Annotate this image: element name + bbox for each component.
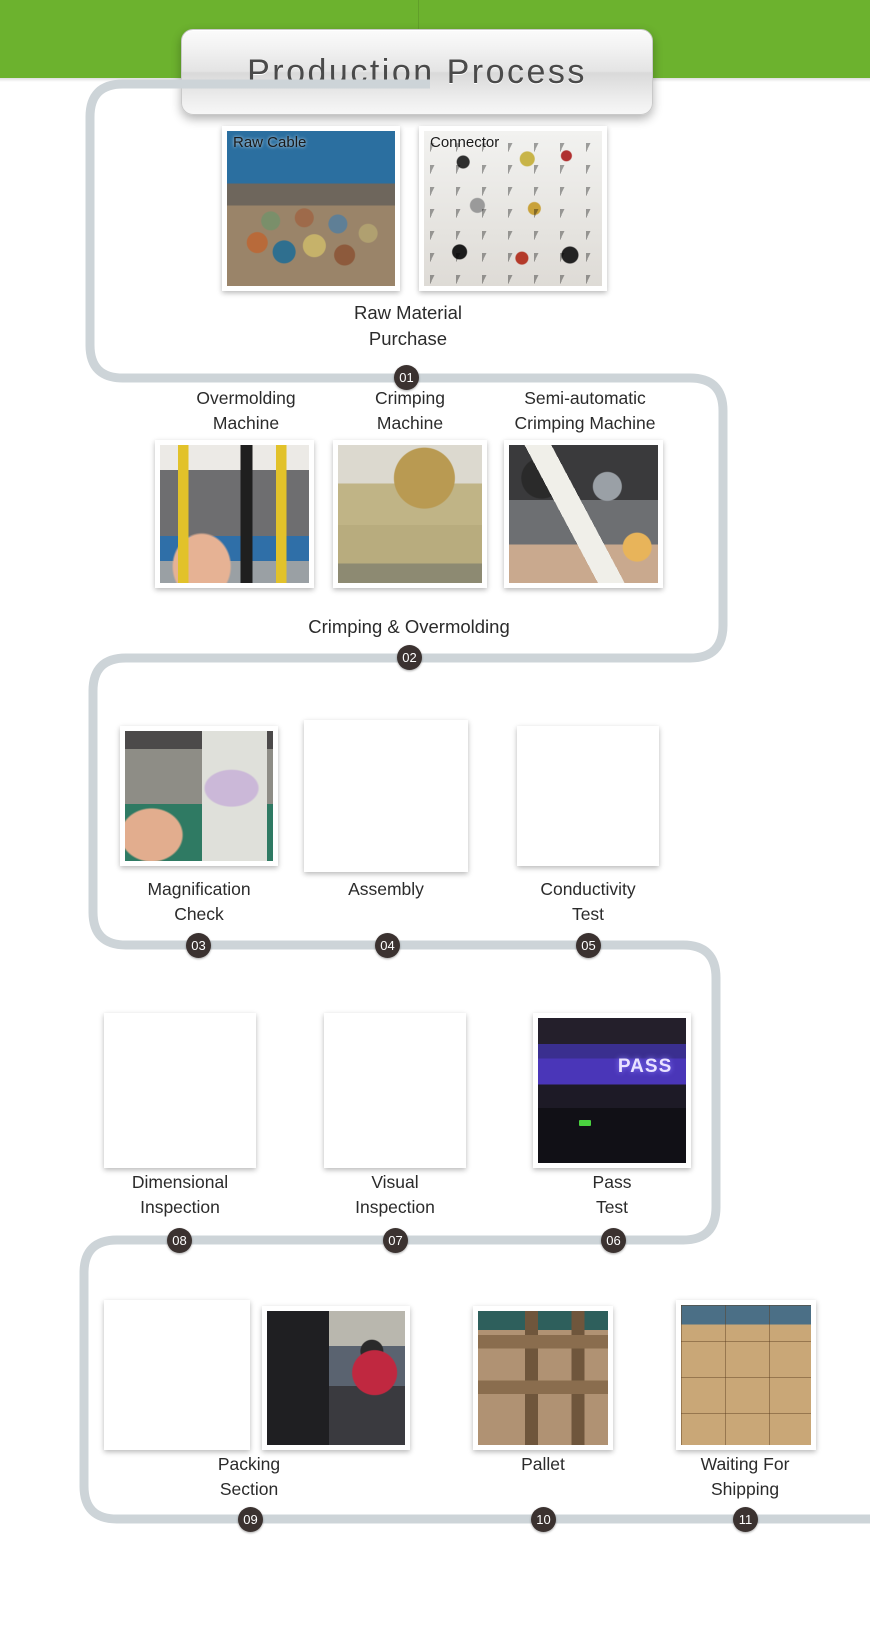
stage-crimping-photo-semi-automatic — [504, 440, 663, 588]
stage-crimping-photo-crimping-machine — [333, 440, 487, 588]
stage-label-line1: Packing — [169, 1452, 329, 1477]
stage-label-pallet: Pallet — [463, 1452, 623, 1477]
step-badge-06: 06 — [601, 1228, 626, 1253]
photo-image-magnification-check — [125, 731, 273, 861]
stage-pallet-photo — [473, 1306, 613, 1450]
page-title: Production Process — [247, 53, 587, 92]
pass-led-indicator — [579, 1120, 591, 1126]
stage-label-line1: Conductivity — [508, 877, 668, 902]
production-process-infographic: Production Process Raw Cable Connector R… — [0, 0, 870, 1635]
step-badge-07: 07 — [383, 1228, 408, 1253]
stage-label-line2: Check — [119, 902, 279, 927]
stage-label-line2: Inspection — [315, 1195, 475, 1220]
stage-toplabel-crimping-machine: Crimping Machine — [336, 386, 484, 436]
step-badge-03: 03 — [186, 933, 211, 958]
stage-assembly-photo — [304, 720, 468, 872]
stage-pass-test-photo: PASS — [533, 1013, 691, 1168]
photo-image-pass-test: PASS — [538, 1018, 686, 1163]
photo-image-raw-cable: Raw Cable — [227, 131, 395, 286]
photo-image-waiting-for-shipping — [681, 1305, 811, 1445]
stage-label-line1: Crimping & Overmolding — [269, 614, 549, 640]
stage-waiting-for-shipping-photo — [676, 1300, 816, 1450]
stage-label-magnification-check: Magnification Check — [119, 877, 279, 927]
photo-image-packing-1 — [109, 1305, 245, 1445]
stage-magnification-check-photo — [120, 726, 278, 866]
photo-image-visual-inspection — [329, 1018, 461, 1163]
photo-image-pallet — [478, 1311, 608, 1445]
stage-label-pass-test: Pass Test — [532, 1170, 692, 1220]
toplabel-line2: Machine — [166, 411, 326, 436]
step-badge-04: 04 — [375, 933, 400, 958]
stage-label-line1: Raw Material — [288, 300, 528, 326]
stage-label-crimping-overmolding: Crimping & Overmolding — [269, 614, 549, 640]
toplabel-line1: Semi-automatic — [495, 386, 675, 411]
stage-label-line1: Assembly — [306, 877, 466, 902]
photo-image-crimping-machine — [338, 445, 482, 583]
stage-raw-material-photo-raw-cable: Raw Cable — [222, 126, 400, 291]
stage-label-raw-material-purchase: Raw Material Purchase — [288, 300, 528, 352]
stage-label-dimensional-inspection: Dimensional Inspection — [100, 1170, 260, 1220]
stage-crimping-photo-overmolding-machine — [155, 440, 314, 588]
stage-packing-section-photo-2 — [262, 1306, 410, 1450]
toplabel-line2: Machine — [336, 411, 484, 436]
stage-visual-inspection-photo — [324, 1013, 466, 1168]
stage-label-line1: Dimensional — [100, 1170, 260, 1195]
pass-indicator-text: PASS — [618, 1056, 672, 1078]
stage-raw-material-photo-connector: Connector — [419, 126, 607, 291]
step-badge-02: 02 — [397, 645, 422, 670]
photo-image-semi-automatic-crimping-machine — [509, 445, 658, 583]
stage-label-line1: Pallet — [463, 1452, 623, 1477]
stage-packing-section-photo-1 — [104, 1300, 250, 1450]
stage-label-line2: Test — [508, 902, 668, 927]
stage-label-line2: Purchase — [288, 326, 528, 352]
photo-image-connector: Connector — [424, 131, 602, 286]
step-badge-05: 05 — [576, 933, 601, 958]
step-badge-10: 10 — [531, 1507, 556, 1532]
stage-label-line1: Magnification — [119, 877, 279, 902]
stage-label-line2: Shipping — [665, 1477, 825, 1502]
toplabel-line1: Crimping — [336, 386, 484, 411]
stage-toplabel-overmolding-machine: Overmolding Machine — [166, 386, 326, 436]
stage-label-line1: Visual — [315, 1170, 475, 1195]
stage-label-line2: Inspection — [100, 1195, 260, 1220]
page-title-plaque: Production Process — [181, 29, 653, 115]
step-badge-08: 08 — [167, 1228, 192, 1253]
photo-image-conductivity-test — [522, 731, 654, 861]
step-badge-11: 11 — [733, 1507, 758, 1532]
stage-label-line1: Pass — [532, 1170, 692, 1195]
stage-toplabel-semi-automatic-crimping-machine: Semi-automatic Crimping Machine — [495, 386, 675, 436]
stage-label-waiting-for-shipping: Waiting For Shipping — [665, 1452, 825, 1502]
stage-conductivity-test-photo — [517, 726, 659, 866]
stage-label-visual-inspection: Visual Inspection — [315, 1170, 475, 1220]
stage-label-line1: Waiting For — [665, 1452, 825, 1477]
stage-label-assembly: Assembly — [306, 877, 466, 902]
toplabel-line2: Crimping Machine — [495, 411, 675, 436]
photo-image-packing-2 — [267, 1311, 405, 1445]
stage-label-line2: Test — [532, 1195, 692, 1220]
step-badge-09: 09 — [238, 1507, 263, 1532]
photo-caption-connector: Connector — [430, 134, 499, 151]
photo-image-overmolding-machine — [160, 445, 309, 583]
toplabel-line1: Overmolding — [166, 386, 326, 411]
stage-label-packing-section: Packing Section — [169, 1452, 329, 1502]
photo-image-assembly — [309, 725, 463, 867]
stage-label-line2: Section — [169, 1477, 329, 1502]
stage-dimensional-inspection-photo — [104, 1013, 256, 1168]
photo-caption-raw-cable: Raw Cable — [233, 134, 306, 151]
photo-image-dimensional-inspection — [109, 1018, 251, 1163]
stage-label-conductivity-test: Conductivity Test — [508, 877, 668, 927]
step-badge-01: 01 — [394, 365, 419, 390]
